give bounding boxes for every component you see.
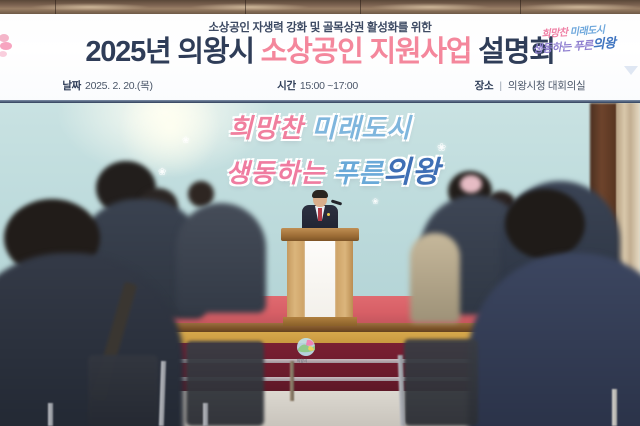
city-slogan-line1-a: 희망찬 bbox=[541, 27, 568, 40]
city-slogan-line2-a: 생동하는 bbox=[532, 41, 571, 56]
banner-meta-venue: 장소 | 의왕시청 대회의실 bbox=[420, 78, 640, 93]
city-slogan-line2-c: 의왕 bbox=[592, 35, 616, 52]
event-photo: ❀ ❀ ❀ ❀ ❀ 희망찬 미래도시 생동하는 푸른의왕 bbox=[0, 103, 640, 426]
audience-person bbox=[410, 233, 460, 323]
banner-title-highlight: 소상공인 지원사업 bbox=[261, 36, 472, 68]
banner-meta-time: 시간 15:00 ~17:00 bbox=[215, 78, 420, 93]
butterfly-icon: ❀ bbox=[437, 143, 446, 154]
butterfly-icon: ❀ bbox=[182, 136, 190, 145]
audience-head bbox=[505, 189, 585, 259]
screenshot-root: 소상공인 자생력 강화 및 골목상권 활성화를 위한 2025년 의왕시 소상공… bbox=[0, 0, 640, 426]
chair bbox=[404, 339, 478, 426]
banner-meta-row: 날짜 2025. 2. 20.(목) 시간 15:00 ~17:00 장소 | … bbox=[0, 78, 640, 93]
butterfly-icon: ❀ bbox=[158, 168, 166, 178]
ceiling-wood-panel bbox=[0, 0, 640, 14]
chair bbox=[88, 355, 158, 426]
banner-meta-venue-separator: | bbox=[499, 80, 501, 92]
banner-meta-venue-value: 의왕시청 대회의실 bbox=[508, 78, 586, 93]
chair bbox=[186, 341, 264, 426]
butterfly-icon: ❀ bbox=[372, 198, 379, 206]
banner-corner-triangle bbox=[624, 66, 638, 75]
event-banner: 소상공인 자생력 강화 및 골목상권 활성화를 위한 2025년 의왕시 소상공… bbox=[0, 14, 640, 103]
audience-head bbox=[460, 175, 482, 193]
banner-meta-time-value: 15:00 ~17:00 bbox=[300, 80, 358, 92]
chair-leg bbox=[290, 361, 294, 401]
city-emblem-icon bbox=[295, 336, 319, 360]
chair-leg bbox=[612, 389, 617, 426]
city-slogan-line2-b: 푸른 bbox=[570, 39, 593, 52]
podium: 의왕시 bbox=[287, 228, 353, 328]
banner-meta-date-value: 2025. 2. 20.(목) bbox=[85, 78, 153, 93]
banner-meta-venue-label: 장소 bbox=[475, 78, 494, 93]
banner-title-part1: 2025년 의왕시 bbox=[85, 36, 260, 68]
audience-person bbox=[176, 203, 266, 313]
banner-meta-date-label: 날짜 bbox=[62, 78, 81, 93]
chair-leg bbox=[48, 403, 53, 426]
banner-meta-time-label: 시간 bbox=[277, 78, 296, 93]
city-slogan-mark: 희망찬 미래도시 생동하는 푸른의왕 bbox=[521, 24, 627, 67]
banner-meta-date: 날짜 2025. 2. 20.(목) bbox=[0, 78, 215, 93]
speaker-person bbox=[300, 191, 340, 233]
audience-head bbox=[188, 181, 214, 207]
chair-leg bbox=[203, 403, 208, 426]
